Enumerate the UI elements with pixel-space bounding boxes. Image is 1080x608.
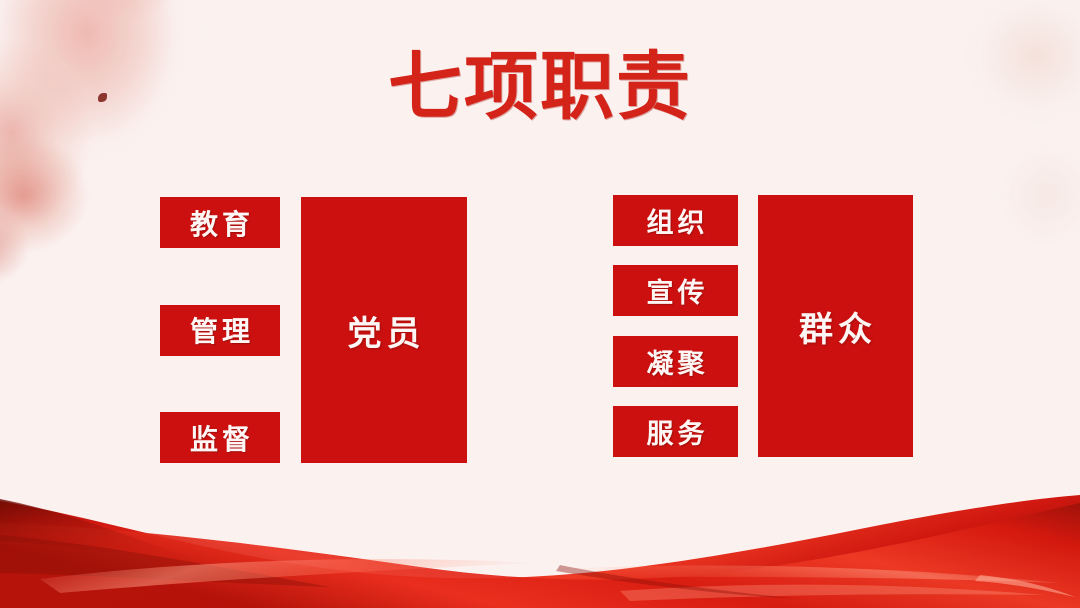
group-masses: 组织 宣传 凝聚 服务 群众 bbox=[613, 195, 913, 457]
seven-duties-diagram: 教育 管理 监督 党员 组织 宣传 凝聚 服务 群众 bbox=[0, 0, 1080, 608]
duty-chip-organize[interactable]: 组织 bbox=[613, 195, 738, 246]
group-party-members: 教育 管理 监督 党员 bbox=[160, 197, 467, 463]
party-duty-chip-list: 教育 管理 监督 bbox=[160, 197, 280, 463]
duty-chip-publicize[interactable]: 宣传 bbox=[613, 265, 738, 316]
duty-chip-service[interactable]: 服务 bbox=[613, 406, 738, 457]
pillar-masses[interactable]: 群众 bbox=[758, 195, 913, 457]
duty-chip-education[interactable]: 教育 bbox=[160, 197, 280, 248]
pillar-party-members[interactable]: 党员 bbox=[301, 197, 467, 463]
duty-chip-cohesion[interactable]: 凝聚 bbox=[613, 336, 738, 387]
duty-chip-supervision[interactable]: 监督 bbox=[160, 412, 280, 463]
duty-chip-management[interactable]: 管理 bbox=[160, 305, 280, 356]
slide-canvas: 七项职责 教育 管理 监督 党员 组织 宣传 凝聚 服务 群众 bbox=[0, 0, 1080, 608]
masses-duty-chip-list: 组织 宣传 凝聚 服务 bbox=[613, 195, 738, 457]
